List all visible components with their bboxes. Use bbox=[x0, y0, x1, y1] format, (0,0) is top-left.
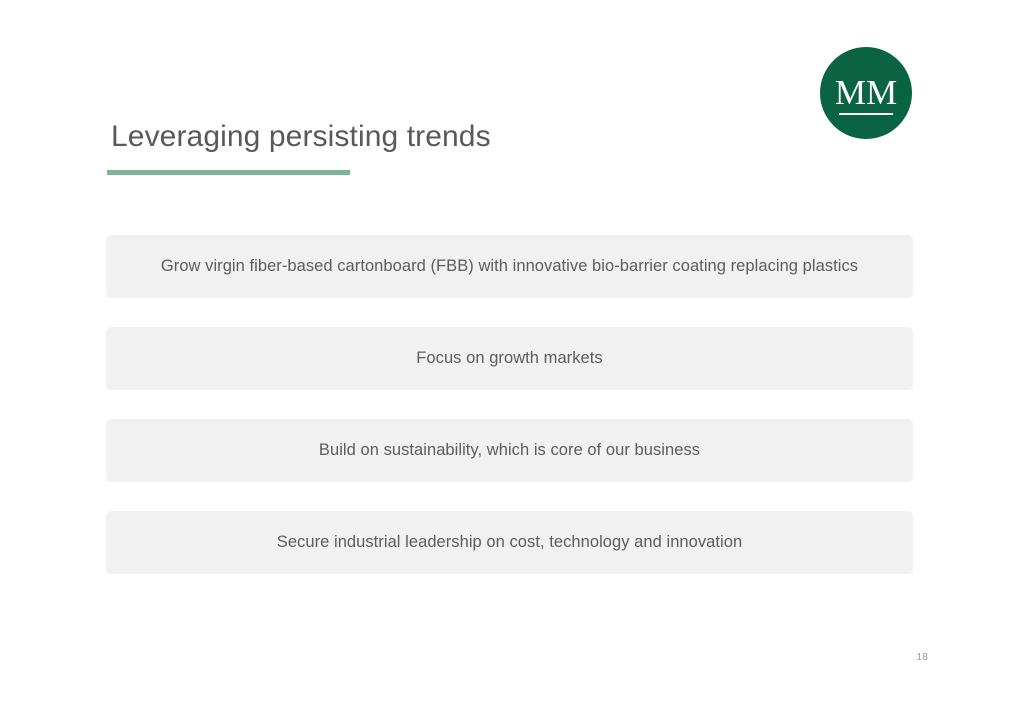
company-logo: MM bbox=[820, 47, 912, 139]
page-number: 18 bbox=[916, 652, 928, 663]
logo-letters: MM bbox=[835, 75, 897, 110]
mm-logo-icon: MM bbox=[820, 47, 912, 139]
content-box: Build on sustainability, which is core o… bbox=[106, 419, 913, 482]
content-box-text: Secure industrial leadership on cost, te… bbox=[277, 532, 742, 553]
content-box: Focus on growth markets bbox=[106, 327, 913, 390]
slide-canvas: MM Leveraging persisting trends Grow vir… bbox=[0, 0, 1024, 724]
content-box-text: Focus on growth markets bbox=[416, 348, 602, 369]
title-accent-underline bbox=[107, 170, 350, 175]
content-box: Grow virgin fiber-based cartonboard (FBB… bbox=[106, 235, 913, 298]
content-box: Secure industrial leadership on cost, te… bbox=[106, 511, 913, 574]
page-title: Leveraging persisting trends bbox=[111, 120, 491, 154]
content-box-text: Grow virgin fiber-based cartonboard (FBB… bbox=[161, 256, 858, 277]
content-box-list: Grow virgin fiber-based cartonboard (FBB… bbox=[106, 235, 913, 574]
logo-underline-rule bbox=[839, 113, 893, 115]
content-box-text: Build on sustainability, which is core o… bbox=[319, 440, 700, 461]
